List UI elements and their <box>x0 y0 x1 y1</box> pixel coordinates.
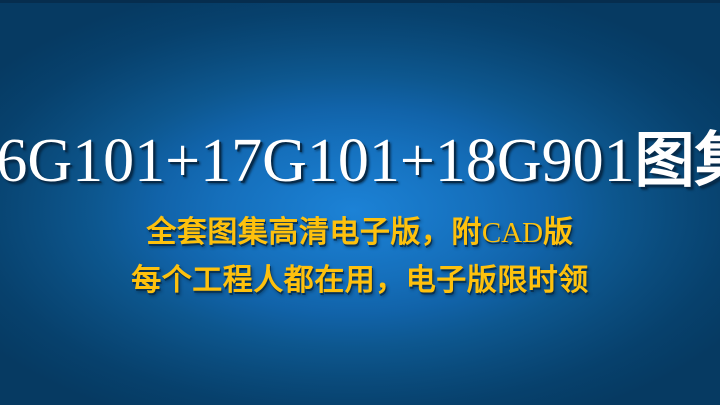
promo-banner: 16G101+17G101+18G901 图集 全套图集高清电子版，附CAD版 … <box>0 0 720 405</box>
subtitle-block: 全套图集高清电子版，附CAD版 每个工程人都在用，电子版限时领 <box>131 218 589 296</box>
subtitle-line-1-part-3: 版 <box>543 215 574 250</box>
subtitle-line-1: 全套图集高清电子版，附CAD版 <box>146 218 573 248</box>
subtitle-line-2: 每个工程人都在用，电子版限时领 <box>131 264 589 296</box>
banner-content: 16G101+17G101+18G901 图集 全套图集高清电子版，附CAD版 … <box>0 0 720 405</box>
title-cjk-segment: 图集 <box>635 131 720 191</box>
page-title: 16G101+17G101+18G901 图集 <box>0 130 720 192</box>
subtitle-line-1-part-2: CAD <box>482 217 543 249</box>
subtitle-line-1-part-1: 全套图集高清电子版，附 <box>146 215 482 250</box>
subtitle-line-2-part-1: 每个工程人都在用，电子版限时领 <box>131 263 589 298</box>
title-code-segment: 16G101+17G101+18G901 <box>0 130 635 192</box>
